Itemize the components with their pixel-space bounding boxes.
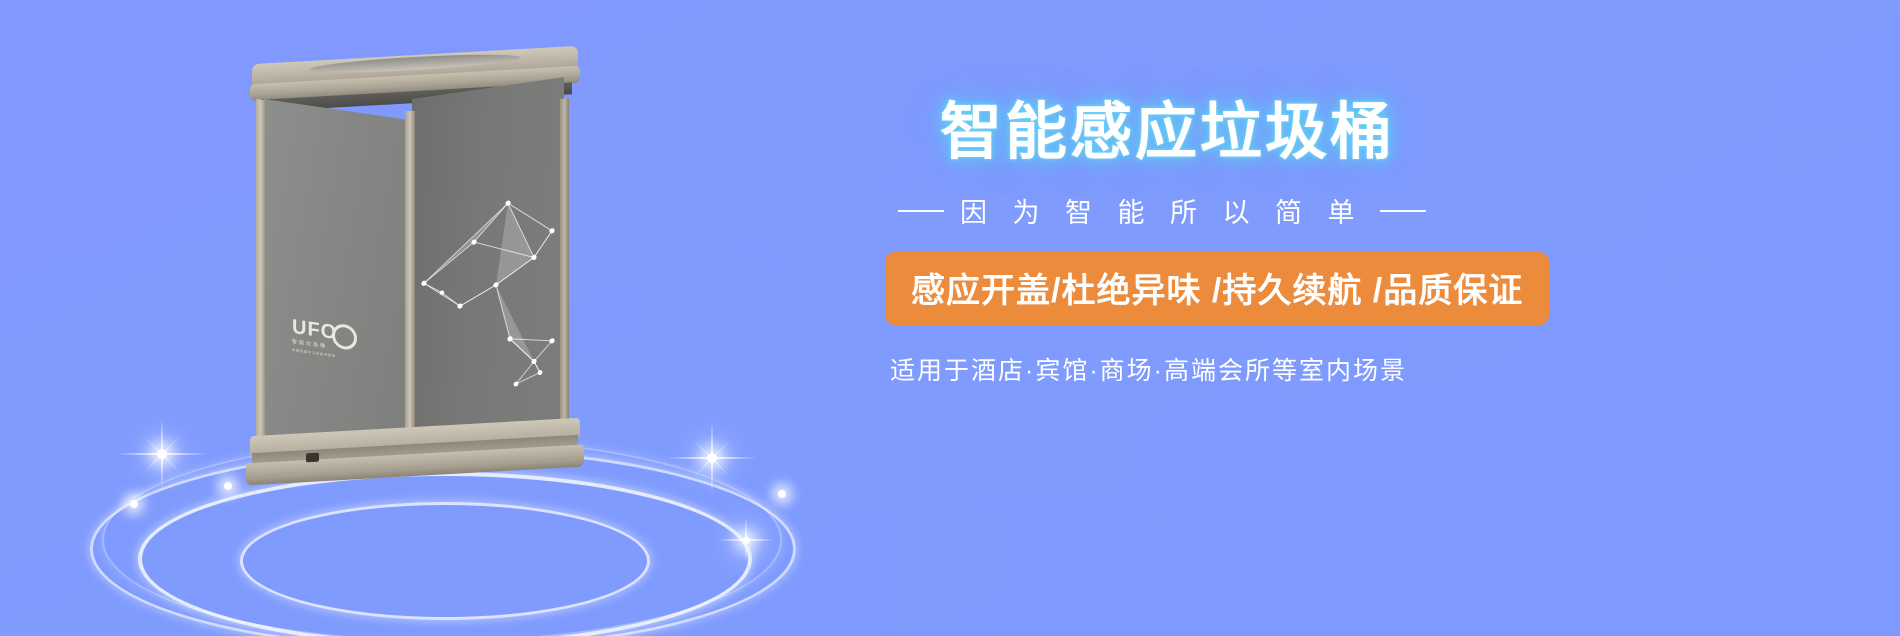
body-edge-left [256, 99, 265, 442]
product-hero-banner: UFO 智能垃圾桶 中国智能环卫设备领航者 智能感应垃圾桶 因 为 智 能 所 … [0, 0, 1900, 636]
body-face-right [412, 77, 564, 444]
glow-dot-right [778, 490, 786, 498]
product-image: UFO 智能垃圾桶 中国智能环卫设备领航者 [90, 40, 810, 600]
glow-dot-left [130, 500, 138, 508]
body-edge-right [560, 98, 569, 443]
body-edge-center [405, 111, 415, 463]
tagline-rule-left [898, 210, 944, 212]
body-face-left [264, 99, 412, 465]
base-sensor-slot [306, 453, 319, 463]
tagline: 因 为 智 能 所 以 简 单 [898, 191, 1840, 230]
tagline-rule-right [1380, 210, 1426, 212]
smart-trash-can: UFO 智能垃圾桶 中国智能环卫设备领航者 [250, 55, 580, 475]
polygon-network-graphic [412, 77, 564, 444]
marketing-copy: 智能感应垃圾桶 因 为 智 能 所 以 简 单 感应开盖/杜绝异味 /持久续航 … [880, 100, 1840, 387]
tagline-text: 因 为 智 能 所 以 简 单 [960, 191, 1364, 230]
feature-badge: 感应开盖/杜绝异味 /持久续航 /品质保证 [885, 252, 1549, 325]
ripple-ring-3 [240, 502, 650, 620]
page-title: 智能感应垃圾桶 [940, 100, 1840, 165]
glow-dot-left-2 [224, 482, 232, 490]
use-case-text: 适用于酒店·宾馆·商场·高端会所等室内场景 [890, 351, 1840, 387]
